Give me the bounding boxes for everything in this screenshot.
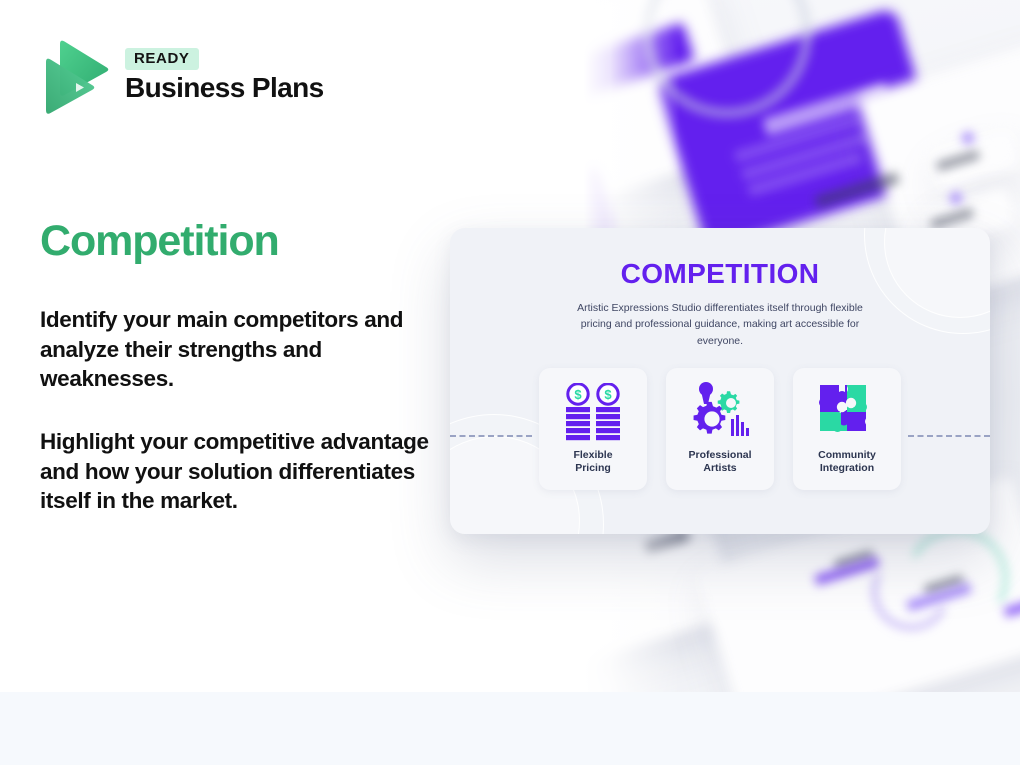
brand-wordmark: READY Business Plans xyxy=(125,48,324,104)
description-paragraph-1: Identify your main competitors and analy… xyxy=(40,305,440,394)
feature-tiles: $ $ xyxy=(539,368,901,490)
feature-tile-professional-artists[interactable]: Professional Artists xyxy=(666,368,774,490)
svg-text:$: $ xyxy=(574,387,582,402)
slide-subtitle: Artistic Expressions Studio differentiat… xyxy=(570,300,870,349)
feature-tile-label: Community Integration xyxy=(818,449,876,476)
feature-tile-label: Professional Artists xyxy=(688,449,751,476)
feature-tile-flexible-pricing[interactable]: $ $ xyxy=(539,368,647,490)
feature-tile-label: Flexible Pricing xyxy=(573,449,612,476)
page-title: Competition xyxy=(40,218,279,265)
bottom-strip xyxy=(0,692,1020,765)
connector-line-left xyxy=(450,435,532,437)
description-paragraph-2: Highlight your competitive advantage and… xyxy=(40,427,440,516)
ready-badge: READY xyxy=(125,48,199,70)
coin-stacks-icon: $ $ xyxy=(562,380,624,444)
description-block: Identify your main competitors and analy… xyxy=(40,305,440,516)
play-triangle-logo-icon xyxy=(40,38,112,114)
slide-title: COMPETITION xyxy=(450,258,990,290)
connector-line-right xyxy=(908,435,990,437)
gears-lightbulb-chart-icon xyxy=(685,380,755,444)
feature-tile-community-integration[interactable]: Community Integration xyxy=(793,368,901,490)
brand-name: Business Plans xyxy=(125,73,324,104)
svg-text:$: $ xyxy=(604,387,612,402)
puzzle-pieces-icon xyxy=(817,380,877,444)
presentation-preview-page: READY Business Plans Competition Identif… xyxy=(0,0,1020,765)
brand-logo[interactable]: READY Business Plans xyxy=(40,38,324,114)
competition-slide-card[interactable]: COMPETITION Artistic Expressions Studio … xyxy=(450,228,990,534)
